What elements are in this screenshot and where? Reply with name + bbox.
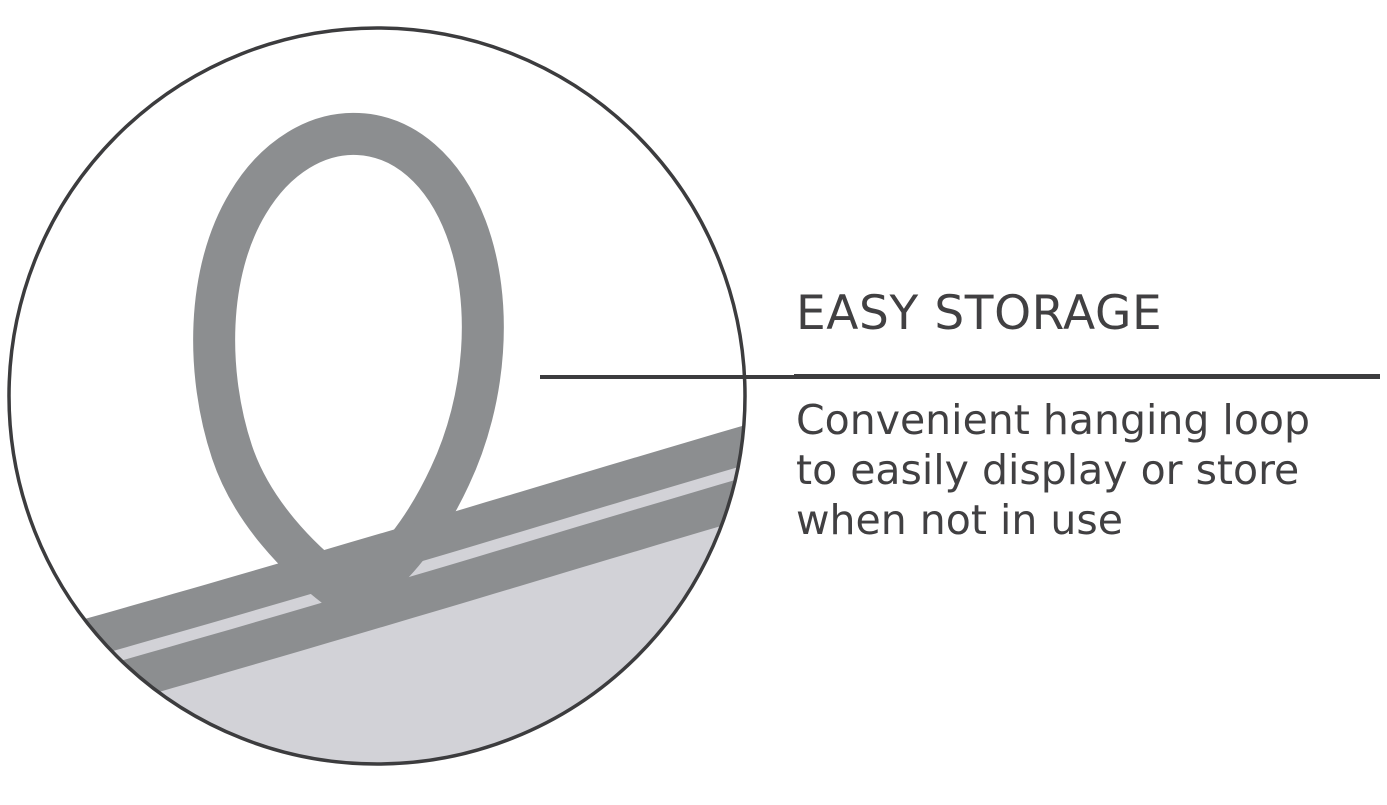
callout-heading: EASY STORAGE (794, 290, 1380, 341)
callout-description: Convenient hanging loop to easily displa… (796, 395, 1376, 545)
callout-divider-rule (794, 374, 1380, 378)
callout-text-block: EASY STORAGE Convenient hanging loop to … (794, 290, 1380, 341)
callout-description-line-1: Convenient hanging loop (796, 395, 1376, 445)
callout-description-line-2: to easily display or store (796, 445, 1376, 495)
feature-callout-graphic: EASY STORAGE Convenient hanging loop to … (0, 0, 1387, 805)
callout-description-line-3: when not in use (796, 495, 1376, 545)
